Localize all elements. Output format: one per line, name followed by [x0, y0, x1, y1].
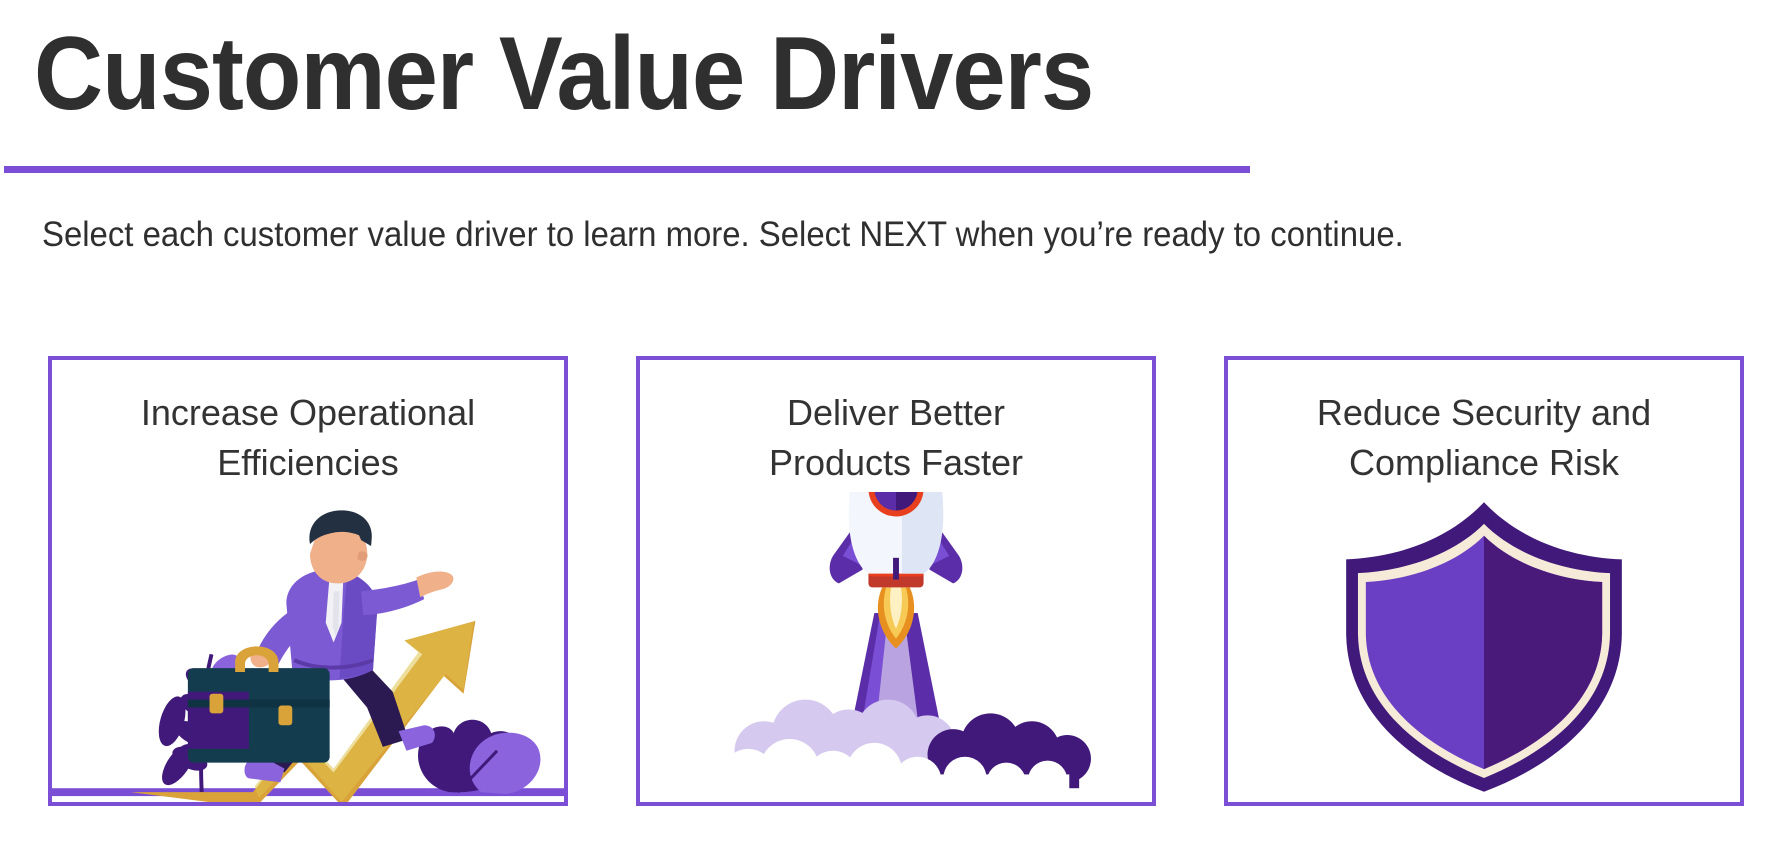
page-subtitle: Select each customer value driver to lea…	[42, 214, 1404, 256]
card-title-line2: Compliance Risk	[1349, 442, 1619, 483]
slide-canvas: Customer Value Drivers Select each custo…	[0, 0, 1780, 860]
businessman-running-up-arrow-icon	[52, 492, 564, 802]
value-driver-card-reduce-security-and-compliance-risk[interactable]: Reduce Security and Compliance Risk	[1224, 356, 1744, 806]
card-title-line2: Efficiencies	[217, 442, 398, 483]
value-driver-card-increase-operational-efficiencies[interactable]: Increase Operational Efficiencies	[48, 356, 568, 806]
title-underline-rule	[4, 166, 1250, 173]
rocket-launch-icon	[640, 492, 1152, 802]
card-title-line2: Products Faster	[769, 442, 1023, 483]
card-title-line1: Reduce Security and	[1317, 392, 1651, 433]
page-title: Customer Value Drivers	[34, 22, 1093, 126]
value-driver-card-deliver-better-products-faster[interactable]: Deliver Better Products Faster	[636, 356, 1156, 806]
card-title: Reduce Security and Compliance Risk	[1246, 388, 1722, 487]
shield-icon	[1228, 492, 1740, 802]
card-title: Increase Operational Efficiencies	[70, 388, 546, 487]
card-title: Deliver Better Products Faster	[658, 388, 1134, 487]
card-title-line1: Increase Operational	[141, 392, 475, 433]
card-title-line1: Deliver Better	[787, 392, 1005, 433]
